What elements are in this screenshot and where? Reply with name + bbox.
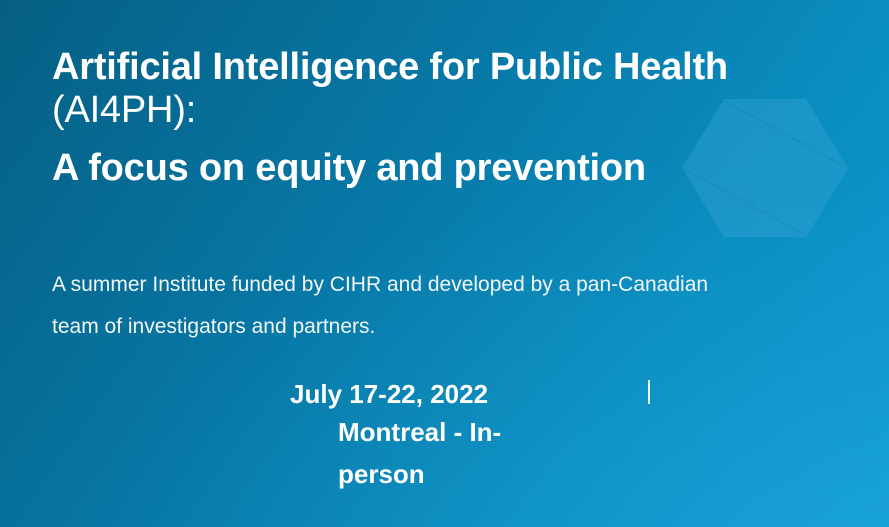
subtitle-line-2: team of investigators and partners. (52, 306, 852, 348)
slide-content: Artificial Intelligence for Public Healt… (0, 0, 889, 527)
event-date: July 17-22, 2022 (290, 377, 710, 412)
text-cursor-caret[interactable] (648, 380, 650, 404)
title-line-1: Artificial Intelligence for Public Healt… (52, 46, 862, 89)
event-details: July 17-22, 2022 Montreal - In- person (290, 377, 710, 495)
event-location-line-2: person (338, 454, 548, 496)
title-line-2: (AI4PH): (52, 89, 862, 132)
title-line-3: A focus on equity and prevention (52, 147, 862, 190)
subtitle-line-1: A summer Institute funded by CIHR and de… (52, 264, 852, 306)
slide-subtitle: A summer Institute funded by CIHR and de… (52, 264, 852, 348)
presentation-slide: Artificial Intelligence for Public Healt… (0, 0, 889, 527)
slide-title: Artificial Intelligence for Public Healt… (52, 46, 862, 190)
event-location-line-1: Montreal - In- (338, 412, 548, 454)
